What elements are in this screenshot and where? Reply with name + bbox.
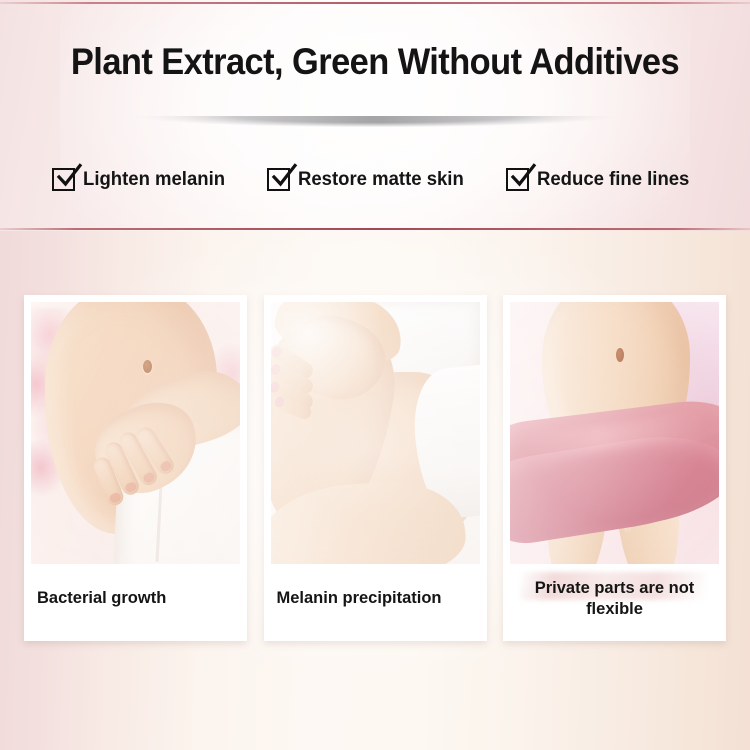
feature-item-restore-matte-skin[interactable]: Restore matte skin — [267, 168, 472, 191]
feature-checklist: Lighten melanin Restore matte skin Reduc… — [0, 159, 750, 199]
concern-caption-row: Melanin precipitation — [271, 564, 480, 641]
checkbox-checked-icon[interactable] — [506, 168, 529, 191]
page-title: Plant Extract, Green Without Additives — [26, 39, 724, 85]
concern-caption-row: Bacterial growth — [31, 564, 240, 641]
concerns-section: Bacterial growth — [0, 231, 750, 750]
feature-label: Lighten melanin — [83, 168, 225, 190]
header-top-rule — [0, 2, 750, 4]
concern-card-private-parts-not-flexible[interactable]: Private parts are not flexible — [503, 295, 726, 641]
feature-label: Restore matte skin — [298, 168, 464, 190]
navel-detail — [143, 360, 152, 373]
feature-item-lighten-melanin[interactable]: Lighten melanin — [52, 168, 233, 191]
concern-card-melanin-precipitation[interactable]: Melanin precipitation — [264, 295, 487, 641]
photo-highlight-overlay — [271, 302, 480, 564]
curl-shadow-left — [95, 116, 375, 136]
navel-detail — [616, 348, 624, 362]
checkbox-checked-icon[interactable] — [52, 168, 75, 191]
concern-caption: Bacterial growth — [37, 588, 166, 609]
curl-shadow-right — [375, 116, 655, 136]
concern-photo-bacterial-growth — [31, 302, 240, 564]
concern-photo-private-parts — [510, 302, 719, 564]
concern-caption: Private parts are not flexible — [516, 578, 713, 620]
feature-label: Reduce fine lines — [537, 168, 689, 190]
concern-card-bacterial-growth[interactable]: Bacterial growth — [24, 295, 247, 641]
concern-caption-row: Private parts are not flexible — [510, 564, 719, 641]
concern-card-list: Bacterial growth — [24, 295, 726, 641]
concern-caption: Melanin precipitation — [277, 588, 442, 609]
page-curl-shadow-divider — [95, 116, 655, 136]
header-band: Plant Extract, Green Without Additives L… — [0, 0, 750, 231]
promo-poster: Plant Extract, Green Without Additives L… — [0, 0, 750, 750]
concern-photo-melanin-precipitation — [271, 302, 480, 564]
checkbox-checked-icon[interactable] — [267, 168, 290, 191]
feature-item-reduce-fine-lines[interactable]: Reduce fine lines — [506, 168, 697, 191]
header-bottom-rule — [0, 228, 750, 230]
